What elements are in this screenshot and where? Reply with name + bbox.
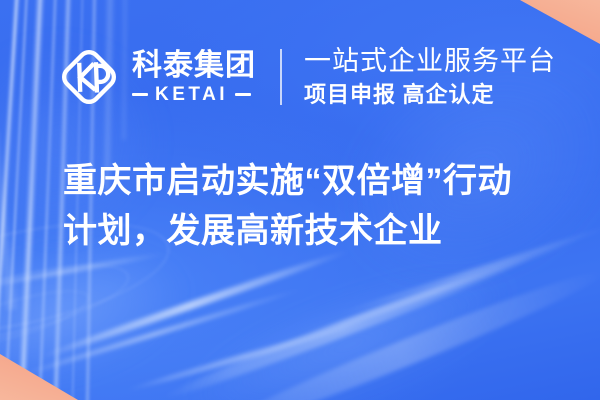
tagline-primary: 一站式企业服务平台 xyxy=(304,46,556,77)
logo-wordmark: 科泰集团 KETAI xyxy=(132,50,256,104)
banner-header: 科泰集团 KETAI 一站式企业服务平台 项目申报 高企认定 xyxy=(58,46,556,108)
logo-company-name-en: KETAI xyxy=(155,85,228,104)
logo-dash-right-icon xyxy=(235,93,251,96)
tagline-secondary: 项目申报 高企认定 xyxy=(304,82,556,108)
ketai-kp-monogram-icon xyxy=(58,46,120,108)
logo-company-name-en-row: KETAI xyxy=(132,85,256,104)
promo-banner: 科泰集团 KETAI 一站式企业服务平台 项目申报 高企认定 重庆市启动实施“双… xyxy=(0,0,600,400)
tagline-block: 一站式企业服务平台 项目申报 高企认定 xyxy=(304,46,556,108)
company-logo[interactable]: 科泰集团 KETAI xyxy=(58,46,256,108)
logo-dash-left-icon xyxy=(132,93,148,96)
logo-company-name-cn: 科泰集团 xyxy=(132,50,256,81)
headline-title: 重庆市启动实施“双倍增”行动计划，发展高新技术企业 xyxy=(63,156,543,257)
header-divider xyxy=(280,49,282,105)
